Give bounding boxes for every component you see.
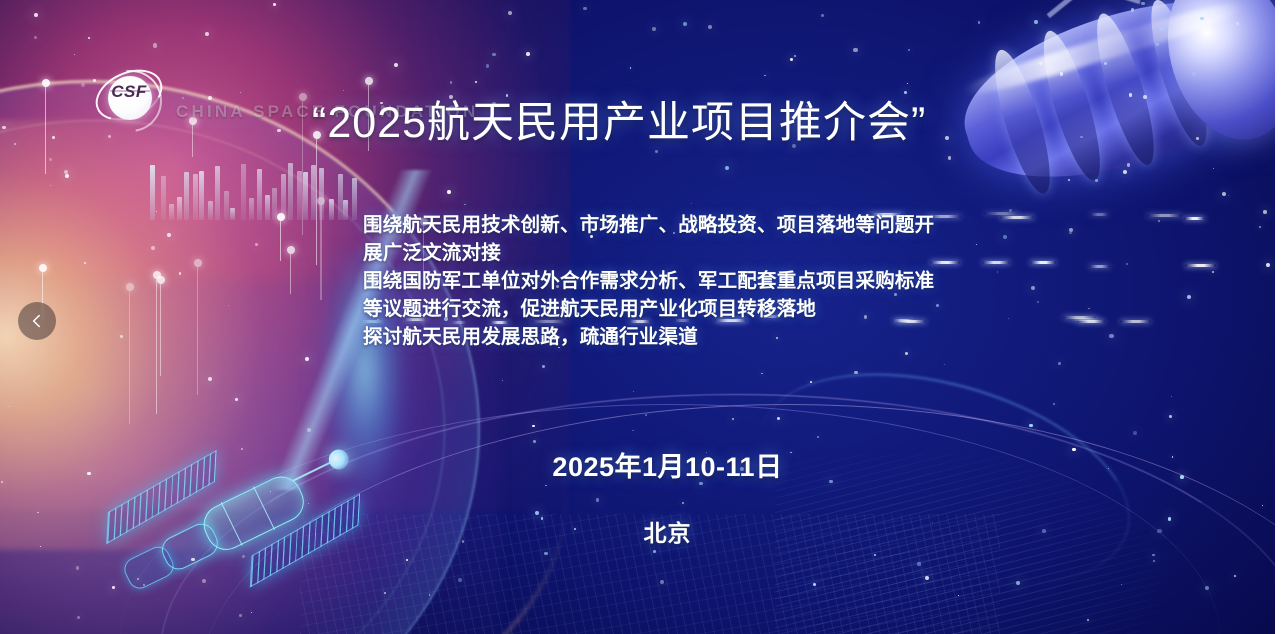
carousel-prev-button[interactable] [18, 302, 56, 340]
banner-description-list: 围绕航天民用技术创新、市场推广、战略投资、项目落地等问题开 展广泛文流对接 围绕… [363, 212, 963, 352]
event-meta: 2025年1月10-11日 北京 [0, 445, 1275, 548]
chevron-left-icon [29, 313, 45, 329]
page-right-edge [1275, 0, 1283, 634]
description-line: 展广泛文流对接 [363, 240, 963, 267]
banner-headline: “2025航天民用产业项目推介会” [312, 88, 926, 150]
event-date: 2025年1月10-11日 [60, 445, 1275, 484]
hero-carousel[interactable]: CSF CHINA SPACE FOUNDATION “2025航天民用产业项目… [0, 0, 1283, 634]
logo-monogram: CSF [96, 82, 162, 102]
description-line: 探讨航天民用发展思路，疏通行业渠道 [363, 324, 963, 351]
description-line: 围绕航天民用技术创新、市场推广、战略投资、项目落地等问题开 [363, 212, 963, 239]
event-city: 北京 [60, 514, 1275, 548]
description-line: 围绕国防军工单位对外合作需求分析、军工配套重点项目采购标准 [363, 268, 963, 295]
slide-content: CSF CHINA SPACE FOUNDATION “2025航天民用产业项目… [0, 0, 1275, 634]
carousel-slide: CSF CHINA SPACE FOUNDATION “2025航天民用产业项目… [0, 0, 1275, 634]
description-line: 等议题进行交流，促进航天民用产业化项目转移落地 [363, 296, 963, 323]
csf-globe-icon: CSF [96, 68, 162, 134]
